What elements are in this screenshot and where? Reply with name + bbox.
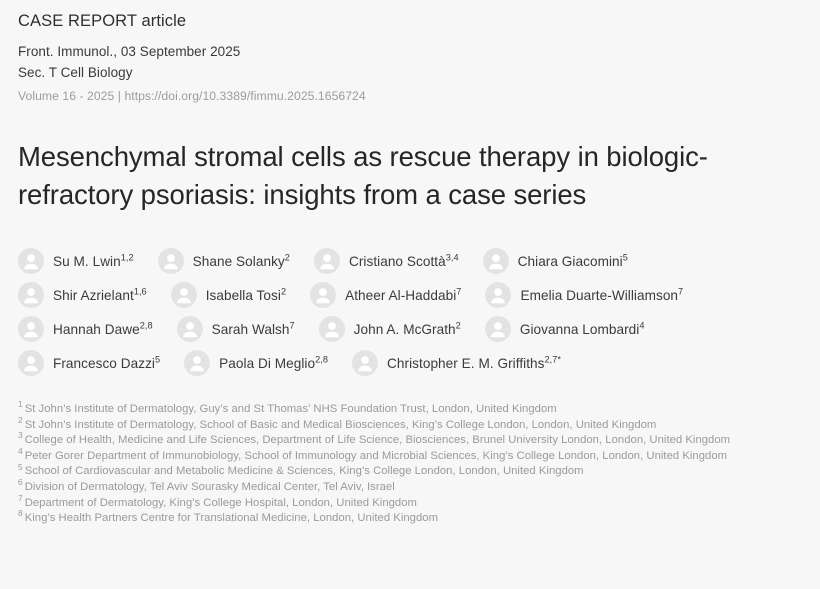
author-affiliation-marker: 1,6	[134, 286, 147, 296]
author-affiliation-marker: 1,2	[121, 252, 134, 262]
author-item[interactable]: Francesco Dazzi5	[18, 346, 160, 380]
affiliation-text: School of Cardiovascular and Metabolic M…	[25, 465, 584, 477]
affiliation-marker: 6	[18, 477, 23, 487]
author-item[interactable]: Isabella Tosi2	[171, 278, 286, 312]
journal-section-line: Sec. T Cell Biology	[18, 62, 802, 83]
author-name[interactable]: Shir Azrielant1,6	[53, 288, 147, 303]
author-item[interactable]: Christopher E. M. Griffiths2,7*	[352, 346, 561, 380]
author-affiliation-marker: 7	[456, 286, 461, 296]
author-item[interactable]: Shane Solanky2	[158, 244, 290, 278]
affiliation-text: Department of Dermatology, King’s Colleg…	[25, 497, 417, 509]
author-affiliation-marker: 3,4	[446, 252, 459, 262]
journal-and-date-line: Front. Immunol., 03 September 2025	[18, 41, 802, 62]
affiliation-marker: 3	[18, 430, 23, 440]
avatar-person-icon	[352, 350, 378, 376]
author-affiliation-marker: 2	[285, 252, 290, 262]
affiliation-item: 7Department of Dermatology, King’s Colle…	[18, 496, 802, 512]
author-name[interactable]: Chiara Giacomini5	[518, 254, 628, 269]
author-name[interactable]: Christopher E. M. Griffiths2,7*	[387, 356, 561, 371]
avatar-person-icon	[177, 316, 203, 342]
article-header-page: CASE REPORT article Front. Immunol., 03 …	[0, 0, 820, 589]
author-item[interactable]: Sarah Walsh7	[177, 312, 295, 346]
affiliation-text: Peter Gorer Department of Immunobiology,…	[25, 450, 727, 462]
affiliation-item: 8King’s Health Partners Centre for Trans…	[18, 511, 802, 527]
affiliation-text: St John’s Institute of Dermatology, Scho…	[25, 419, 657, 431]
affiliation-list: 1St John’s Institute of Dermatology, Guy…	[18, 402, 802, 527]
affiliation-item: 2St John’s Institute of Dermatology, Sch…	[18, 418, 802, 434]
author-item[interactable]: Su M. Lwin1,2	[18, 244, 134, 278]
article-type-label: CASE REPORT article	[18, 10, 802, 32]
avatar-person-icon	[18, 350, 44, 376]
avatar-person-icon	[314, 248, 340, 274]
avatar-person-icon	[483, 248, 509, 274]
article-meta-block: CASE REPORT article Front. Immunol., 03 …	[18, 0, 802, 106]
author-affiliation-marker: 5	[155, 354, 160, 364]
affiliation-item: 3College of Health, Medicine and Life Sc…	[18, 433, 802, 449]
affiliation-marker: 7	[18, 493, 23, 503]
affiliation-item: 6Division of Dermatology, Tel Aviv Soura…	[18, 480, 802, 496]
author-affiliation-marker: 5	[623, 252, 628, 262]
author-item[interactable]: Chiara Giacomini5	[483, 244, 628, 278]
doi-link[interactable]: https://doi.org/10.3389/fimmu.2025.16567…	[124, 89, 365, 103]
page-title: Mesenchymal stromal cells as rescue ther…	[18, 138, 802, 214]
author-item[interactable]: Cristiano Scottà3,4	[314, 244, 459, 278]
avatar-person-icon	[158, 248, 184, 274]
author-affiliation-marker: 2	[456, 320, 461, 330]
volume-label: Volume 16 - 2025 |	[18, 89, 124, 103]
avatar-person-icon	[319, 316, 345, 342]
author-affiliation-marker: 4	[639, 320, 644, 330]
affiliation-item: 5School of Cardiovascular and Metabolic …	[18, 464, 802, 480]
affiliation-marker: 1	[18, 399, 23, 409]
author-item[interactable]: Paola Di Meglio2,8	[184, 346, 328, 380]
affiliation-text: College of Health, Medicine and Life Sci…	[25, 434, 730, 446]
author-name[interactable]: Sarah Walsh7	[212, 322, 295, 337]
avatar-person-icon	[184, 350, 210, 376]
author-affiliation-marker: 2,7*	[545, 354, 562, 364]
author-name[interactable]: Shane Solanky2	[193, 254, 290, 269]
author-affiliation-marker: 7	[678, 286, 683, 296]
author-item[interactable]: Atheer Al-Haddabi7	[310, 278, 461, 312]
author-list: Su M. Lwin1,2Shane Solanky2Cristiano Sco…	[18, 244, 802, 380]
author-name[interactable]: Francesco Dazzi5	[53, 356, 160, 371]
author-affiliation-marker: 2,8	[140, 320, 153, 330]
avatar-person-icon	[171, 282, 197, 308]
author-item[interactable]: Emelia Duarte-Williamson7	[485, 278, 683, 312]
author-affiliation-marker: 2	[281, 286, 286, 296]
author-affiliation-marker: 7	[290, 320, 295, 330]
affiliation-marker: 2	[18, 415, 23, 425]
avatar-person-icon	[485, 316, 511, 342]
avatar-person-icon	[18, 316, 44, 342]
author-item[interactable]: John A. McGrath2	[319, 312, 461, 346]
author-name[interactable]: Emelia Duarte-Williamson7	[520, 288, 683, 303]
affiliation-text: King’s Health Partners Centre for Transl…	[25, 512, 438, 524]
affiliation-marker: 8	[18, 508, 23, 518]
avatar-person-icon	[18, 248, 44, 274]
affiliation-item: 4Peter Gorer Department of Immunobiology…	[18, 449, 802, 465]
author-name[interactable]: Hannah Dawe2,8	[53, 322, 153, 337]
affiliation-item: 1St John’s Institute of Dermatology, Guy…	[18, 402, 802, 418]
author-item[interactable]: Giovanna Lombardi4	[485, 312, 645, 346]
affiliation-text: Division of Dermatology, Tel Aviv Souras…	[25, 481, 395, 493]
avatar-person-icon	[310, 282, 336, 308]
author-name[interactable]: Isabella Tosi2	[206, 288, 286, 303]
author-affiliation-marker: 2,8	[315, 354, 328, 364]
author-item[interactable]: Shir Azrielant1,6	[18, 278, 147, 312]
author-name[interactable]: Paola Di Meglio2,8	[219, 356, 328, 371]
author-name[interactable]: John A. McGrath2	[354, 322, 461, 337]
affiliation-text: St John’s Institute of Dermatology, Guy’…	[25, 403, 557, 415]
author-item[interactable]: Hannah Dawe2,8	[18, 312, 153, 346]
affiliation-marker: 5	[18, 462, 23, 472]
affiliation-marker: 4	[18, 446, 23, 456]
author-name[interactable]: Cristiano Scottà3,4	[349, 254, 459, 269]
avatar-person-icon	[485, 282, 511, 308]
avatar-person-icon	[18, 282, 44, 308]
volume-and-doi-line: Volume 16 - 2025 | https://doi.org/10.33…	[18, 86, 802, 106]
author-name[interactable]: Su M. Lwin1,2	[53, 254, 134, 269]
author-name[interactable]: Atheer Al-Haddabi7	[345, 288, 461, 303]
author-name[interactable]: Giovanna Lombardi4	[520, 322, 645, 337]
